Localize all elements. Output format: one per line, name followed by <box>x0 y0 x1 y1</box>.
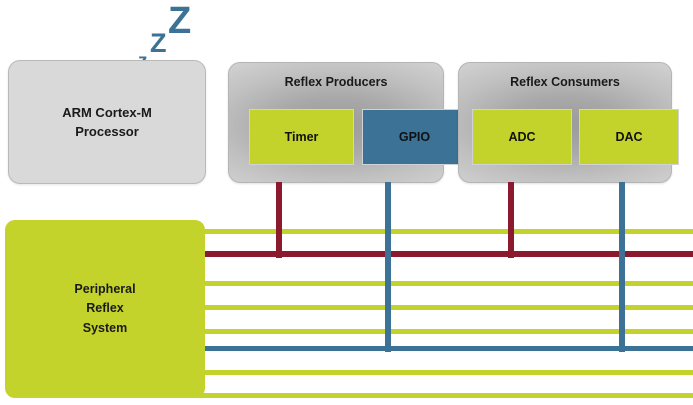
bus-line-channel-4 <box>150 329 693 334</box>
peripheral-reflex-system-block: Peripheral Reflex System <box>5 220 205 398</box>
bus-line-channel-5 <box>150 346 693 351</box>
arm-cortex-m-processor-block: ARM Cortex-M Processor <box>8 60 206 184</box>
reflex-producers-group: Reflex Producers Timer GPIO <box>228 62 444 183</box>
bus-line-channel-2 <box>150 281 693 286</box>
sleep-z-medium-icon: Z <box>150 30 167 57</box>
chip-label-timer: Timer <box>285 130 319 144</box>
bus-line-channel-1 <box>150 251 693 257</box>
peripheral-chip-timer: Timer <box>249 109 354 165</box>
connector-gpio-to-bus <box>385 182 391 352</box>
connector-timer-to-bus <box>276 182 282 258</box>
chip-label-adc: ADC <box>508 130 535 144</box>
peripheral-chip-gpio: GPIO <box>362 109 467 165</box>
peripheral-chip-dac: DAC <box>579 109 679 165</box>
chip-label-dac: DAC <box>615 130 642 144</box>
connector-dac-to-bus <box>619 182 625 352</box>
peripheral-chip-adc: ADC <box>472 109 572 165</box>
bus-line-channel-6 <box>150 370 693 375</box>
diagram-canvas: Z Z z ARM Cortex-M Processor Reflex Prod… <box>0 0 693 405</box>
processor-label: ARM Cortex-M Processor <box>62 103 152 142</box>
bus-line-channel-7 <box>150 393 693 398</box>
bus-line-channel-3 <box>150 305 693 310</box>
chip-label-gpio: GPIO <box>399 130 430 144</box>
peripheral-reflex-system-label: Peripheral Reflex System <box>74 280 135 338</box>
reflex-consumers-group: Reflex Consumers ADC DAC <box>458 62 672 183</box>
reflex-consumers-title: Reflex Consumers <box>459 75 671 89</box>
reflex-producers-title: Reflex Producers <box>229 75 443 89</box>
sleep-z-large-icon: Z <box>168 2 191 40</box>
bus-line-channel-0 <box>150 229 693 234</box>
connector-adc-to-bus <box>508 182 514 258</box>
